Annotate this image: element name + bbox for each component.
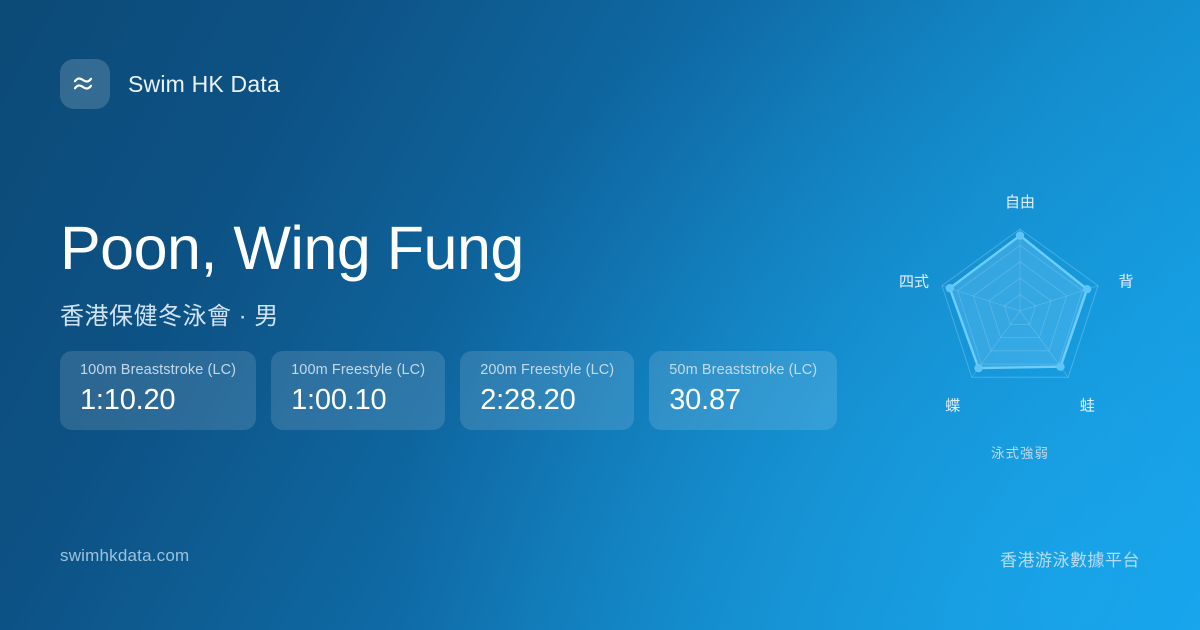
footer-tagline: 香港游泳數據平台 xyxy=(1000,546,1140,571)
stat-card[interactable]: 100m Freestyle (LC) 1:00.10 xyxy=(271,351,445,430)
stat-card[interactable]: 50m Breaststroke (LC) 30.87 xyxy=(649,351,837,430)
radar-axis-label: 蝶 xyxy=(945,397,960,414)
stat-value: 30.87 xyxy=(669,384,817,417)
stat-card[interactable]: 100m Breaststroke (LC) 1:10.20 xyxy=(60,351,256,430)
stat-card-list: 100m Breaststroke (LC) 1:10.20 100m Free… xyxy=(60,351,837,430)
stroke-strength-radar-chart: 自由背蛙蝶四式 xyxy=(870,170,1170,470)
stat-label: 200m Freestyle (LC) xyxy=(480,362,614,378)
stat-card[interactable]: 200m Freestyle (LC) 2:28.20 xyxy=(460,351,634,430)
radar-axis-label: 蛙 xyxy=(1080,397,1095,414)
stat-value: 1:10.20 xyxy=(80,384,236,417)
radar-axis-label: 背 xyxy=(1118,274,1133,291)
athlete-header: Poon, Wing Fung 香港保健冬泳會 · 男 xyxy=(60,216,524,331)
wave-approx-equal-icon xyxy=(71,70,99,98)
stat-label: 100m Freestyle (LC) xyxy=(291,362,425,378)
stat-value: 1:00.10 xyxy=(291,384,425,417)
athlete-meta: 香港保健冬泳會 · 男 xyxy=(60,296,524,331)
stat-value: 2:28.20 xyxy=(480,384,614,417)
brand-name: Swim HK Data xyxy=(128,71,280,98)
share-card: Swim HK Data Poon, Wing Fung 香港保健冬泳會 · 男… xyxy=(0,0,1200,630)
footer-site-url: swimhkdata.com xyxy=(60,546,189,566)
logo-mark xyxy=(60,59,110,109)
radar-caption: 泳式強弱 xyxy=(870,442,1170,462)
stat-label: 100m Breaststroke (LC) xyxy=(80,362,236,378)
radar-axis-label: 四式 xyxy=(899,274,929,291)
stat-label: 50m Breaststroke (LC) xyxy=(669,362,817,378)
athlete-name: Poon, Wing Fung xyxy=(60,216,524,282)
brand[interactable]: Swim HK Data xyxy=(60,59,280,109)
radar-axis-label: 自由 xyxy=(1005,194,1035,211)
